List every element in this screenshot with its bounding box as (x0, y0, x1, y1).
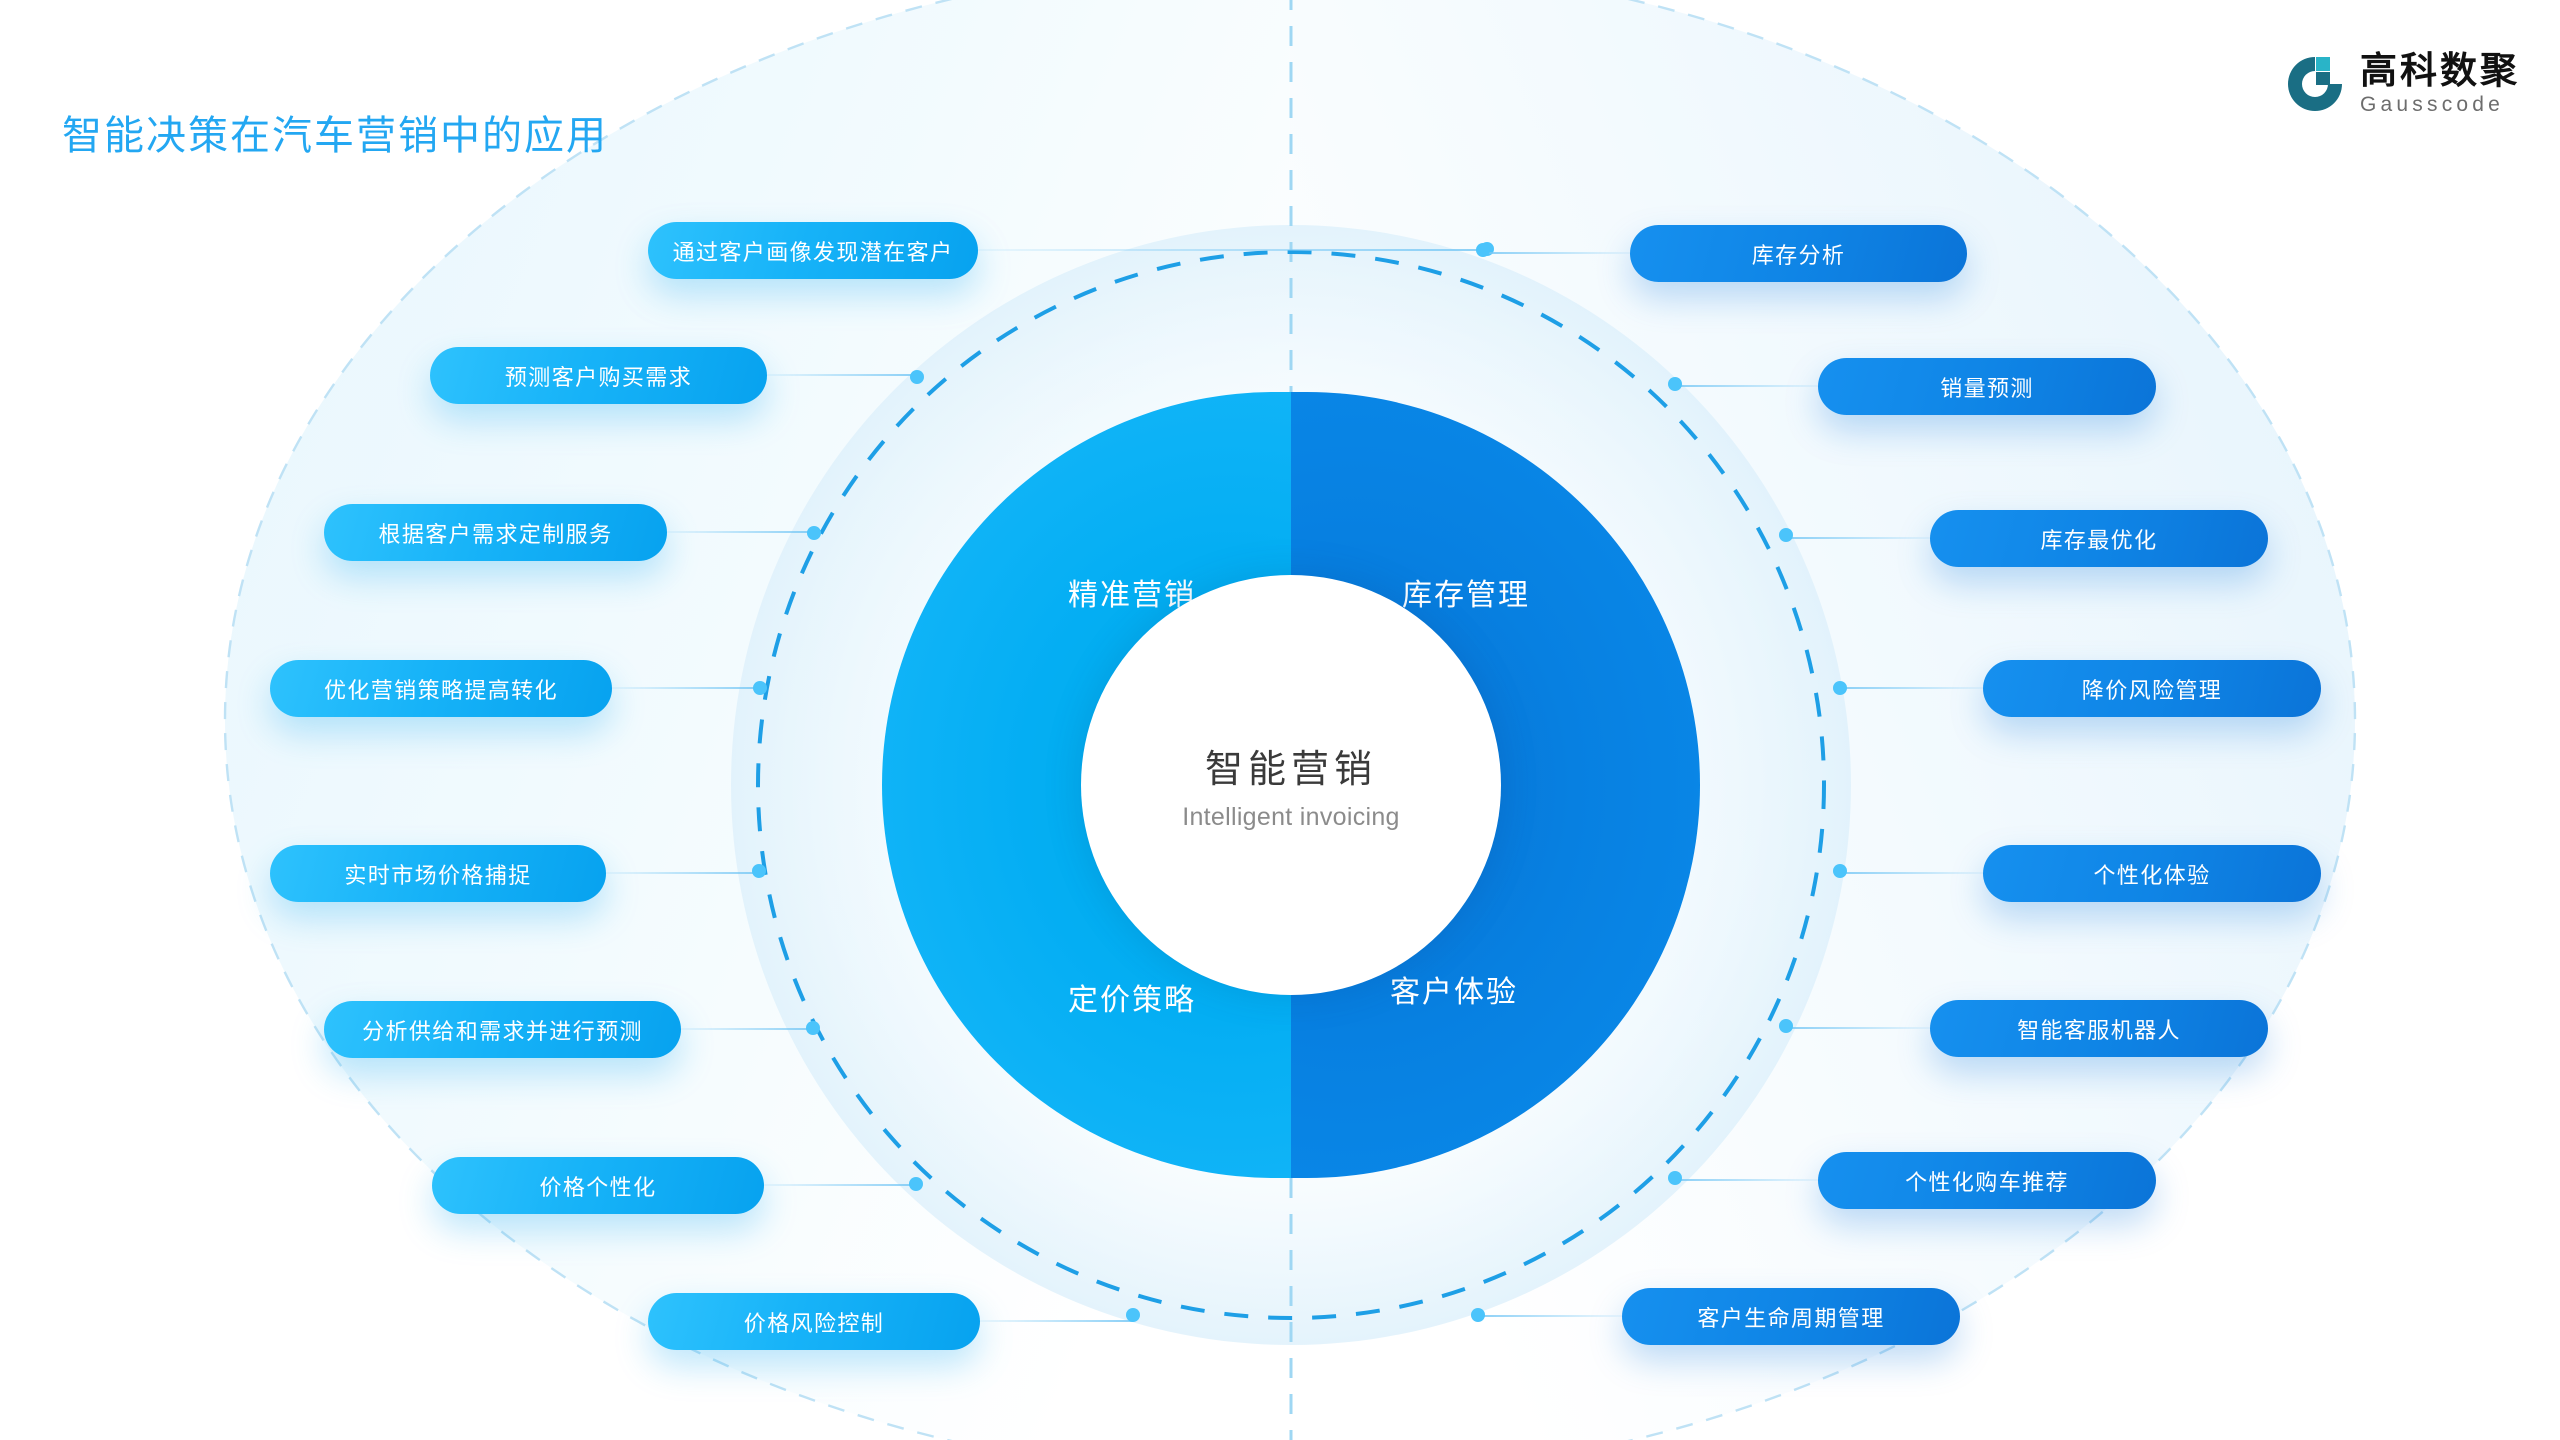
branch-pill[interactable]: 分析供给和需求并进行预测 (324, 1001, 681, 1058)
connector-line (1483, 252, 1630, 254)
connector-dot (1476, 243, 1490, 257)
branch-pill[interactable]: 优化营销策略提高转化 (270, 660, 612, 717)
gausscode-logo-icon (2284, 53, 2346, 115)
page-title: 智能决策在汽车营销中的应用 (62, 103, 608, 161)
quadrant-label-pricing-strategy: 定价策略 (1068, 975, 1196, 1019)
connector-line (980, 1320, 1133, 1322)
brand-logo: 高科数聚 Gausscode (2284, 52, 2520, 115)
branch-pill[interactable]: 个性化体验 (1983, 845, 2321, 902)
hub-title-en: Intelligent invoicing (1182, 803, 1400, 832)
connector-line (1786, 1027, 1930, 1029)
branch-pill[interactable]: 价格个性化 (432, 1157, 764, 1214)
connector-dot (807, 526, 821, 540)
connector-line (1840, 687, 1983, 689)
connector-line (1786, 537, 1930, 539)
branch-pill[interactable]: 通过客户画像发现潜在客户 (648, 222, 978, 279)
connector-line (606, 872, 759, 874)
connector-dot (1471, 1308, 1485, 1322)
quadrant-label-customer-experience: 客户体验 (1390, 967, 1518, 1011)
connector-dot (910, 370, 924, 384)
branch-pill[interactable]: 价格风险控制 (648, 1293, 980, 1350)
branch-pill[interactable]: 预测客户购买需求 (430, 347, 767, 404)
branch-pill[interactable]: 实时市场价格捕捉 (270, 845, 606, 902)
connector-dot (753, 681, 767, 695)
connector-line (1675, 385, 1818, 387)
connector-line (978, 249, 1487, 251)
connector-dot (1126, 1308, 1140, 1322)
connector-line (681, 1028, 813, 1030)
branch-pill[interactable]: 库存分析 (1630, 225, 1967, 282)
hub-title-cn: 智能营销 (1205, 738, 1377, 793)
logo-name-cn: 高科数聚 (2360, 52, 2520, 89)
connector-dot (909, 1177, 923, 1191)
connector-dot (1833, 864, 1847, 878)
connector-dot (752, 864, 766, 878)
branch-pill[interactable]: 个性化购车推荐 (1818, 1152, 2156, 1209)
branch-pill[interactable]: 库存最优化 (1930, 510, 2268, 567)
connector-dot (1779, 1019, 1793, 1033)
branch-pill[interactable]: 销量预测 (1818, 358, 2156, 415)
center-hub[interactable]: 智能营销 Intelligent invoicing (1081, 575, 1501, 995)
connector-line (1675, 1179, 1818, 1181)
connector-line (764, 1184, 916, 1186)
infographic-canvas: 智能决策在汽车营销中的应用 高科数聚 Gausscode 精准营销 库存管理 定… (0, 0, 2560, 1440)
connector-dot (1779, 528, 1793, 542)
connector-line (1840, 872, 1983, 874)
core-wheel: 精准营销 库存管理 定价策略 客户体验 智能营销 Intelligent inv… (882, 392, 1700, 1178)
branch-pill[interactable]: 客户生命周期管理 (1622, 1288, 1960, 1345)
connector-line (1478, 1315, 1622, 1317)
connector-line (767, 374, 917, 376)
connector-line (612, 687, 760, 689)
connector-dot (1668, 377, 1682, 391)
connector-line (667, 531, 814, 533)
branch-pill[interactable]: 降价风险管理 (1983, 660, 2321, 717)
branch-pill[interactable]: 根据客户需求定制服务 (324, 504, 667, 561)
branch-pill[interactable]: 智能客服机器人 (1930, 1000, 2268, 1057)
logo-name-en: Gausscode (2360, 94, 2520, 115)
connector-dot (1833, 681, 1847, 695)
quadrant-label-inventory-management: 库存管理 (1402, 570, 1530, 614)
connector-dot (806, 1021, 820, 1035)
